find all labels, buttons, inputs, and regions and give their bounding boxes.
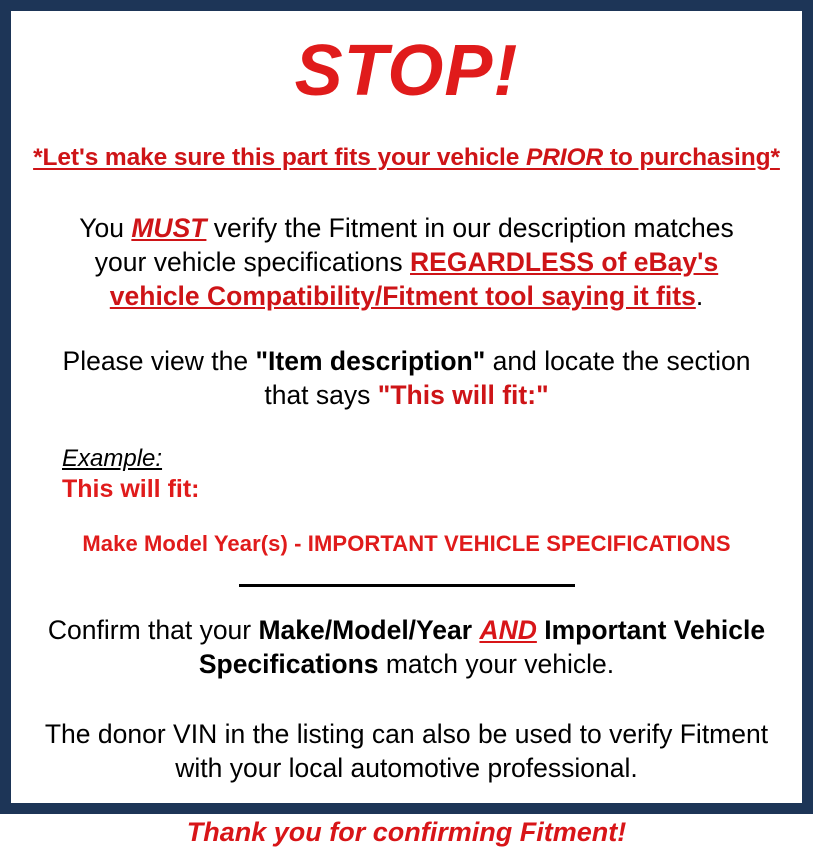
example-block: Example: This will fit: xyxy=(62,446,796,505)
must-emphasis: MUST xyxy=(131,213,206,243)
example-label: Example: xyxy=(62,446,162,473)
confirm-paragraph: Confirm that your Make/Model/Year AND Im… xyxy=(45,614,768,682)
make-model-year-label: Make/Model/Year xyxy=(258,615,472,645)
example-will-fit-heading: This will fit: xyxy=(62,474,796,504)
view-description-paragraph: Please view the "Item description" and l… xyxy=(39,345,774,413)
notice-content: STOP! *Let's make sure this part fits yo… xyxy=(11,11,802,803)
horizontal-divider xyxy=(239,584,575,587)
item-description-label: "Item description" xyxy=(255,346,485,376)
divider-wrapper xyxy=(17,583,796,587)
view-part1: Please view the xyxy=(63,346,256,376)
tagline-after: to purchasing* xyxy=(603,144,780,171)
thank-you-message: Thank you for confirming Fitment! xyxy=(17,816,796,848)
fitment-notice-card: STOP! *Let's make sure this part fits yo… xyxy=(0,0,813,814)
page-title: STOP! xyxy=(17,35,796,107)
example-spec-line: Make Model Year(s) - IMPORTANT VEHICLE S… xyxy=(17,531,796,557)
donor-vin-paragraph: The donor VIN in the listing can also be… xyxy=(35,718,778,786)
tagline: *Let's make sure this part fits your veh… xyxy=(17,144,796,172)
must-verify-paragraph: You MUST verify the Fitment in our descr… xyxy=(51,212,762,314)
and-emphasis: AND xyxy=(479,615,536,645)
tagline-emphasis: PRIOR xyxy=(526,144,603,171)
must-part1: You xyxy=(79,213,131,243)
this-will-fit-quote: "This will fit:" xyxy=(378,380,549,410)
must-part3: . xyxy=(696,281,703,311)
tagline-before: *Let's make sure this part fits your veh… xyxy=(33,144,526,171)
confirm-part2: match your vehicle. xyxy=(379,649,615,679)
confirm-part1: Confirm that your xyxy=(48,615,259,645)
